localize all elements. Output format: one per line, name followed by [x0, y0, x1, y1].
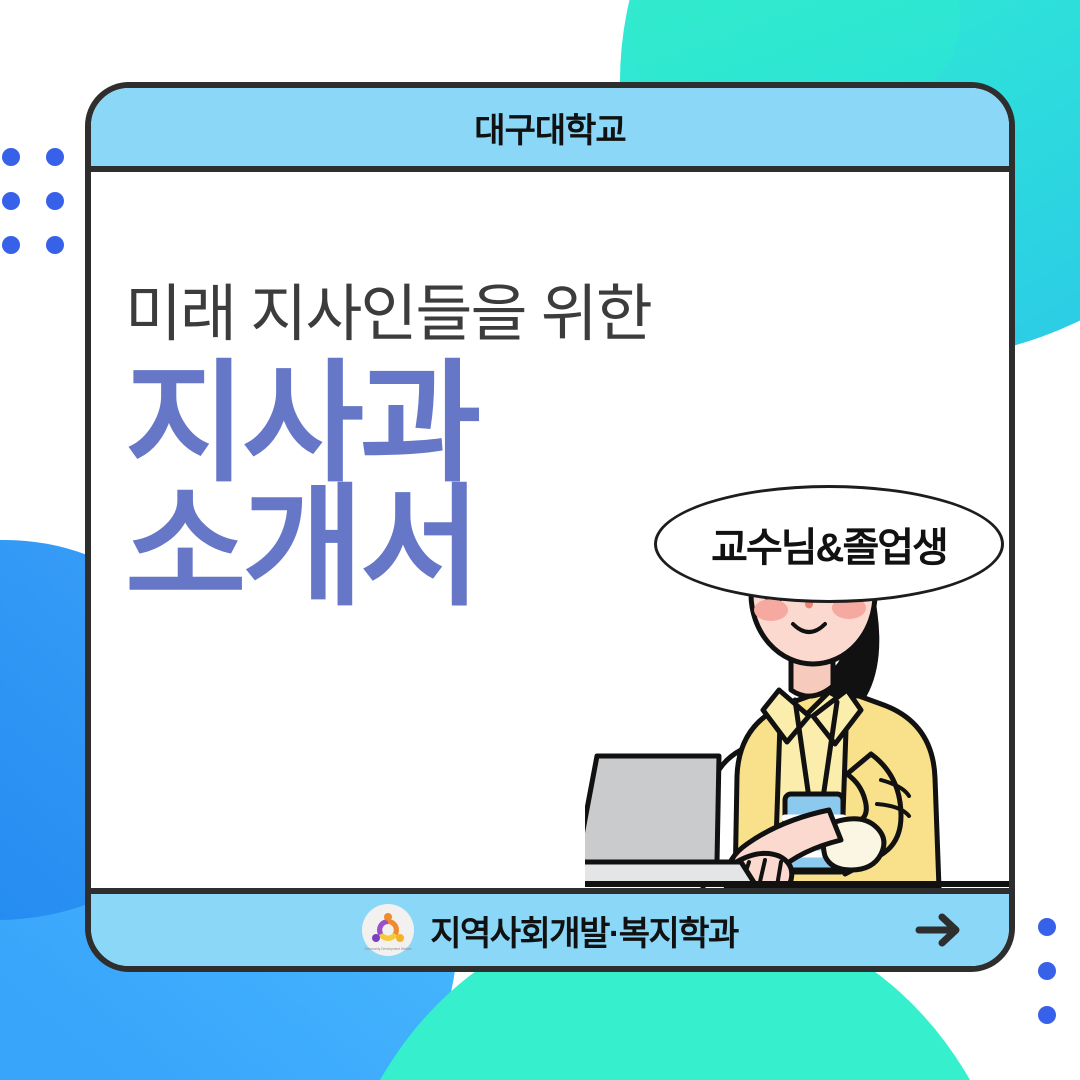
oval-badge-label: 교수님&졸업생 [711, 515, 947, 573]
svg-text:Community Development Welfare: Community Development Welfare [364, 947, 412, 951]
card-footer-band: Community Development Welfare 지역사회개발·복지학… [91, 888, 1009, 966]
dot [2, 192, 20, 210]
poster-card: 대구대학교 미래 지사인들을 위한 지사과 소개서 교수님&졸업생 [85, 82, 1015, 972]
card-body: 미래 지사인들을 위한 지사과 소개서 교수님&졸업생 [91, 172, 1009, 888]
dot [1038, 918, 1056, 936]
poster-title-line-1: 지사과 [125, 362, 745, 486]
poster-subtitle: 미래 지사인들을 위한 [125, 284, 745, 346]
dot-grid-right [1038, 918, 1080, 1024]
arrow-right-icon[interactable] [913, 910, 967, 950]
footer-center-group: Community Development Welfare 지역사회개발·복지학… [91, 904, 1009, 956]
laptop-base [585, 862, 755, 884]
dot [1038, 1006, 1056, 1024]
poster-canvas: 대구대학교 미래 지사인들을 위한 지사과 소개서 교수님&졸업생 [0, 0, 1080, 1080]
dot [2, 148, 20, 166]
oval-badge: 교수님&졸업생 [654, 485, 1004, 603]
dot [46, 236, 64, 254]
card-header-band: 대구대학교 [91, 88, 1009, 172]
blush-left [754, 599, 788, 621]
dot [1038, 962, 1056, 980]
dot [46, 192, 64, 210]
dot [2, 236, 20, 254]
laptop-screen [585, 756, 719, 862]
community-logo-icon: Community Development Welfare [362, 904, 414, 956]
university-name: 대구대학교 [474, 103, 625, 152]
footer-department-name: 지역사회개발·복지학과 [430, 906, 738, 955]
dot [46, 148, 64, 166]
